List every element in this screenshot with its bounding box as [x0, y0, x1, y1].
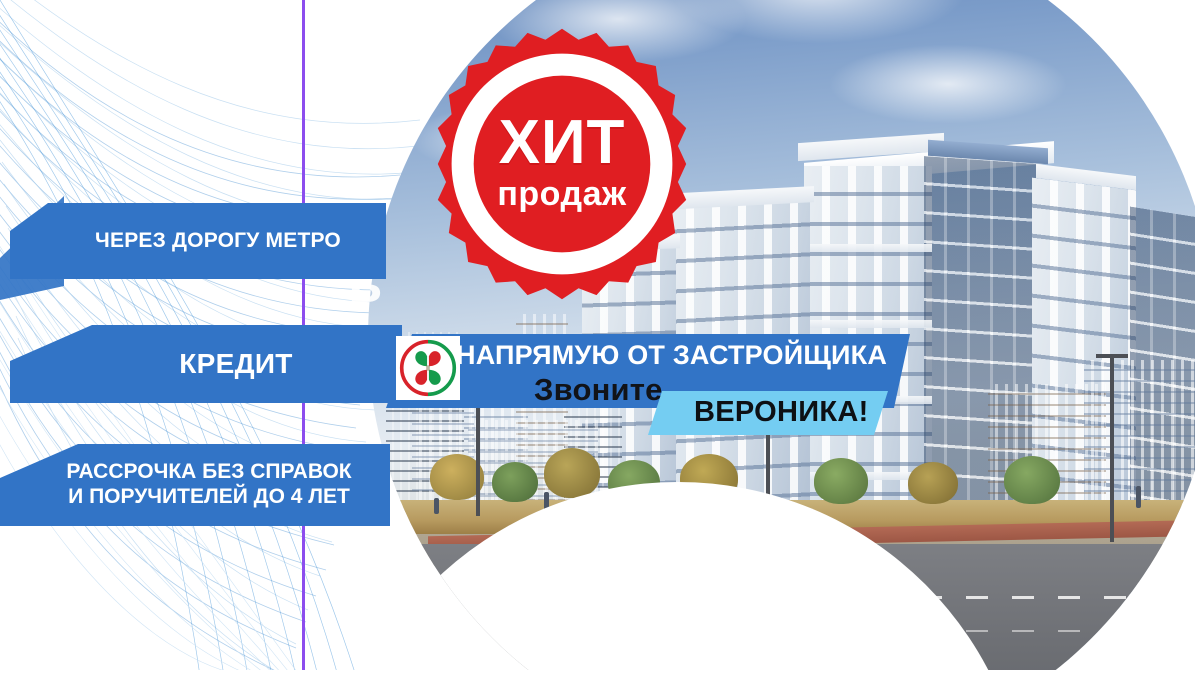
hit-sales-badge: ХИТ продаж	[424, 26, 700, 302]
contact-name: ВЕРОНИКА!	[694, 396, 869, 429]
call-text: Звоните	[534, 372, 663, 408]
ribbon-metro-label: ЧЕРЕЗ ДОРОГУ МЕТРО	[95, 229, 341, 253]
ribbon-installment-label: РАССРОЧКА БЕЗ СПРАВОК И ПОРУЧИТЕЛЕЙ ДО 4…	[66, 460, 351, 510]
badge-starburst-icon	[424, 26, 700, 302]
developer-headline: НАПРЯМУЮ ОТ ЗАСТРОЙЩИКА	[456, 340, 900, 371]
ribbon-installment[interactable]: РАССРОЧКА БЕЗ СПРАВОК И ПОРУЧИТЕЛЕЙ ДО 4…	[0, 444, 390, 526]
clover-four-hearts-icon	[399, 339, 457, 397]
bottom-strip	[0, 670, 1195, 676]
ribbon-metro[interactable]: ЧЕРЕЗ ДОРОГУ МЕТРО	[10, 203, 386, 279]
ribbon-credit-label: КРЕДИТ	[179, 348, 292, 380]
banner-root: ь ХИТ продаж ЧЕРЕЗ ДОРОГУ МЕТРО КРЕДИТ Р…	[0, 0, 1195, 676]
clover-logo[interactable]	[396, 336, 460, 400]
ribbon-credit[interactable]: КРЕДИТ	[10, 325, 402, 403]
